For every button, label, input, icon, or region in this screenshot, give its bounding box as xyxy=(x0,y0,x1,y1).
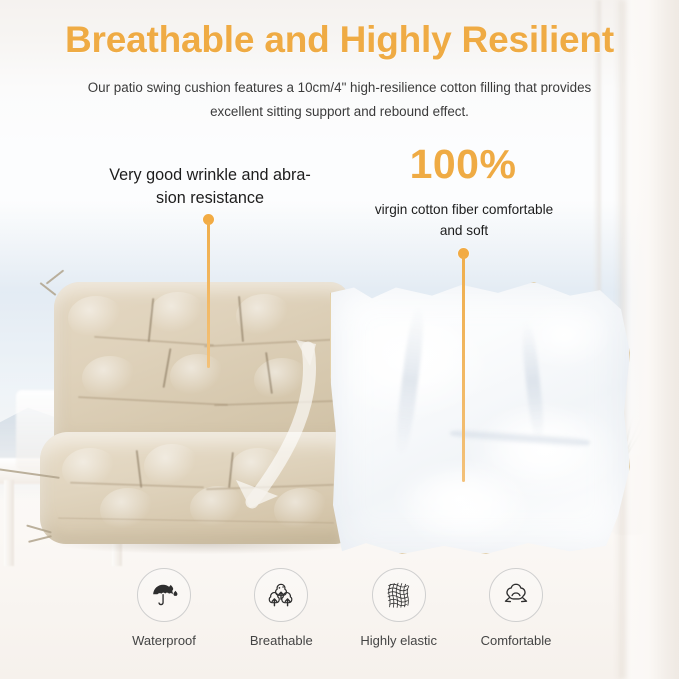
pointer-line-left xyxy=(207,222,210,368)
table-leg xyxy=(4,480,14,566)
rebound-arrow-icon xyxy=(212,330,332,530)
umbrella-icon xyxy=(149,580,179,610)
feature-label: Breathable xyxy=(250,633,313,648)
cushion-tie xyxy=(28,535,52,543)
feature-label: Waterproof xyxy=(132,633,196,648)
comfort-pillow-icon xyxy=(500,579,532,611)
breathable-clouds-icon xyxy=(266,580,296,610)
cotton-fiber-outline xyxy=(330,282,630,554)
cushion-tie xyxy=(40,282,57,296)
feature-highly-elastic[interactable]: Highly elastic xyxy=(347,568,451,648)
annotation-right-line1: virgin cotton fiber comfortable xyxy=(333,200,595,221)
pointer-line-right xyxy=(462,256,465,482)
page-title: Breathable and Highly Resilient xyxy=(0,20,679,61)
annotation-left-line1: Very good wrinkle and abra- xyxy=(70,164,350,187)
feature-list: Waterproof xyxy=(112,568,568,660)
annotation-right: virgin cotton fiber comfortable and soft xyxy=(333,200,595,241)
cotton-filling-photo xyxy=(330,282,630,554)
feature-label: Highly elastic xyxy=(360,633,437,648)
feature-icon-frame xyxy=(489,568,543,622)
feature-breathable[interactable]: Breathable xyxy=(229,568,333,648)
product-infographic: Breathable and Highly Resilient Our pati… xyxy=(0,0,679,679)
annotation-left-line2: sion resistance xyxy=(70,187,350,210)
page-subtitle: Our patio swing cushion features a 10cm/… xyxy=(72,76,607,124)
percent-badge: 100% xyxy=(338,144,588,185)
elastic-mesh-icon xyxy=(383,579,415,611)
feature-label: Comfortable xyxy=(481,633,552,648)
feature-icon-frame xyxy=(372,568,426,622)
feature-icon-frame xyxy=(137,568,191,622)
feature-waterproof[interactable]: Waterproof xyxy=(112,568,216,648)
annotation-right-line2: and soft xyxy=(333,221,595,242)
feature-icon-frame xyxy=(254,568,308,622)
feature-comfortable[interactable]: Comfortable xyxy=(464,568,568,648)
annotation-left: Very good wrinkle and abra- sion resista… xyxy=(70,164,350,210)
